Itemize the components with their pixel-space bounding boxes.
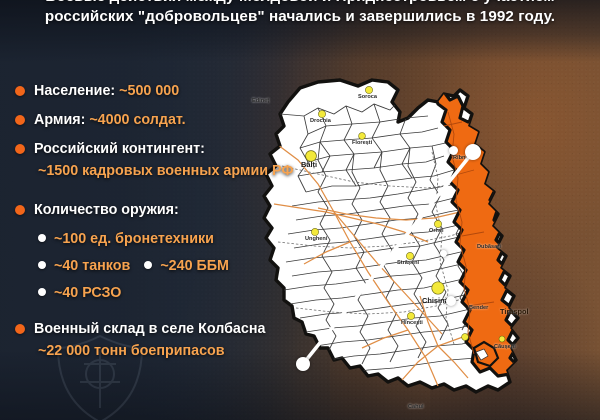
stat-army-value: ~4000 солдат. [89, 112, 185, 128]
page-title: Боевые действия между Молдовой и Приднес… [0, 0, 600, 26]
pointer-midpoint-marker [449, 146, 458, 155]
stat-row-depot: Военный склад в селе Колбасна [0, 320, 300, 338]
map-marker-dubasari [440, 250, 447, 257]
stat-bbm-value: ~240 ББМ [160, 257, 229, 275]
infographic-canvas: Edineț Drochia Soroca Bălți Florești Ung… [0, 0, 600, 420]
stat-row-armored-vehicles: ~100 ед. бронетехники [0, 230, 300, 248]
stat-depot-value: ~22 000 тонн боеприпасов [0, 342, 300, 361]
stat-tanks-value: ~40 танков [54, 257, 130, 275]
map-marker-bender [446, 296, 456, 306]
bullet-dot-icon [15, 205, 25, 215]
sub-bullet-dot-icon [38, 234, 46, 242]
stat-row-mlrs: ~40 РСЗО [0, 284, 300, 302]
sub-bullet-dot-icon [38, 261, 46, 269]
list-spacer [0, 311, 300, 320]
stat-row-army: Армия: ~4000 солдат. [0, 111, 300, 129]
bullet-dot-icon [15, 144, 25, 154]
stat-row-weapons: Количество оружия: [0, 201, 300, 219]
stat-contingent-value: ~1500 кадровых военных армии РФ [0, 162, 300, 181]
stat-population-label: Население: [34, 83, 115, 99]
stat-row-russian-contingent: Российский контингент: [0, 140, 300, 158]
stat-contingent-label: Российский контингент: [34, 140, 205, 158]
stat-row-tanks-bbm: ~40 танков ~240 ББМ [0, 257, 300, 275]
stat-army: Армия: ~4000 солдат. [34, 111, 186, 129]
stat-army-label: Армия: [34, 112, 85, 128]
stat-row-population: Население: ~500 000 [0, 82, 300, 100]
stat-weapons-label: Количество оружия: [34, 201, 179, 219]
pointer-endpoint-ribnita [465, 144, 481, 160]
stat-depot-label: Военный склад в селе Колбасна [34, 320, 265, 338]
stats-list: Население: ~500 000 Армия: ~4000 солдат.… [0, 82, 300, 371]
stat-population: Население: ~500 000 [34, 82, 179, 100]
sub-bullet-dot-icon [38, 288, 46, 296]
bullet-dot-icon [15, 86, 25, 96]
stat-population-value: ~500 000 [119, 83, 179, 99]
list-spacer [0, 192, 300, 201]
bullet-dot-icon [15, 115, 25, 125]
stat-mlrs-value: ~40 РСЗО [54, 284, 121, 302]
bullet-dot-icon [15, 324, 25, 334]
sub-bullet-dot-icon [144, 261, 152, 269]
stat-armored-vehicles-value: ~100 ед. бронетехники [54, 230, 214, 248]
